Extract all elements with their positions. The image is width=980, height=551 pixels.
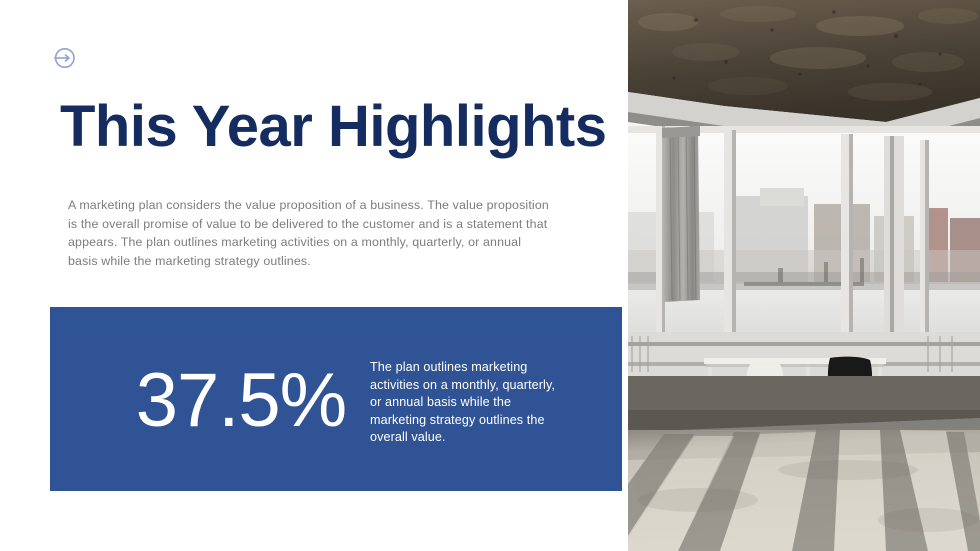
statistic-value: 37.5% — [118, 359, 364, 443]
body-paragraph: A marketing plan considers the value pro… — [68, 196, 554, 270]
left-content-column: This Year Highlights A marketing plan co… — [0, 0, 628, 551]
slide-canvas: This Year Highlights A marketing plan co… — [0, 0, 980, 551]
arrow-right-circle-icon[interactable] — [51, 45, 77, 71]
page-title: This Year Highlights — [60, 96, 600, 158]
interior-photo — [628, 0, 980, 551]
statistic-band: 37.5% The plan outlines marketing activi… — [50, 307, 622, 491]
statistic-caption: The plan outlines marketing activities o… — [370, 359, 566, 447]
